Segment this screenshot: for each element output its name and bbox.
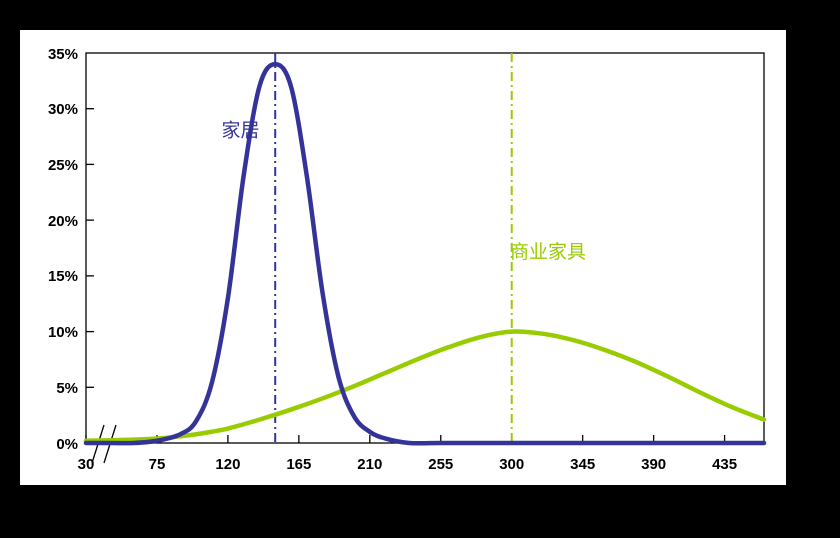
chart-panel: 0% 5% 10% 15% 20% 25% 30% 35% 3075120165… bbox=[20, 30, 786, 485]
y-tick-label-15: 15% bbox=[48, 268, 78, 285]
y-tick-label-0: 0% bbox=[56, 436, 78, 453]
y-tick-label-10: 10% bbox=[48, 324, 78, 341]
curve-home bbox=[86, 64, 764, 443]
x-tick-label-210: 210 bbox=[357, 456, 382, 473]
plot-frame bbox=[86, 53, 764, 443]
x-tick-label-30: 30 bbox=[78, 456, 95, 473]
x-axis-tick-labels: 3075120165210255300345390435 bbox=[78, 456, 737, 473]
series-label-home: 家居 bbox=[222, 120, 260, 142]
x-tick-label-300: 300 bbox=[499, 456, 524, 473]
x-tick-label-435: 435 bbox=[712, 456, 737, 473]
x-tick-label-255: 255 bbox=[428, 456, 453, 473]
x-tick-label-390: 390 bbox=[641, 456, 666, 473]
curve-commercial-furniture bbox=[86, 331, 764, 440]
series-label-commercial-furniture: 商业家具 bbox=[510, 241, 586, 263]
y-tick-label-20: 20% bbox=[48, 213, 78, 230]
y-tick-label-35: 35% bbox=[48, 46, 78, 63]
figure-root: 0% 5% 10% 15% 20% 25% 30% 35% 3075120165… bbox=[0, 0, 840, 538]
distribution-chart: 0% 5% 10% 15% 20% 25% 30% 35% 3075120165… bbox=[20, 30, 786, 485]
y-tick-label-5: 5% bbox=[56, 380, 78, 397]
y-axis-ticks bbox=[86, 109, 94, 443]
x-tick-label-120: 120 bbox=[215, 456, 240, 473]
x-tick-label-345: 345 bbox=[570, 456, 595, 473]
y-tick-label-25: 25% bbox=[48, 157, 78, 174]
x-tick-label-165: 165 bbox=[286, 456, 311, 473]
y-tick-label-30: 30% bbox=[48, 101, 78, 118]
x-tick-label-75: 75 bbox=[149, 456, 166, 473]
